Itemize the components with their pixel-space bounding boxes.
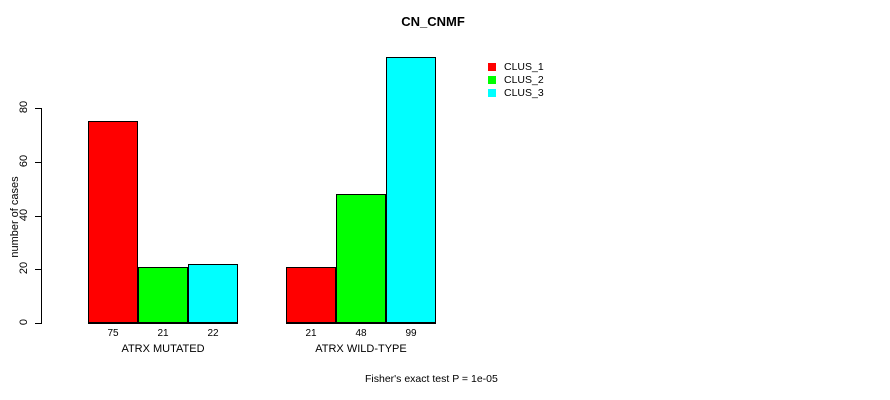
y-axis-title: number of cases — [9, 171, 21, 263]
group-baseline — [286, 323, 436, 324]
legend-item-label: CLUS_2 — [504, 75, 544, 86]
y-axis-tick-mark — [35, 323, 41, 324]
legend-item[interactable]: CLUS_3 — [487, 87, 544, 99]
bar-value-label: 22 — [188, 328, 238, 339]
legend: CLUS_1CLUS_2CLUS_3 — [487, 61, 544, 100]
bar[interactable] — [386, 57, 436, 323]
legend-color-swatch — [487, 62, 497, 72]
bar-value-label: 99 — [386, 328, 436, 339]
chart-title-container: CN_CNMF — [0, 13, 890, 31]
legend-item[interactable]: CLUS_1 — [487, 61, 544, 73]
y-axis-tick-mark — [35, 216, 41, 217]
statistical-test-annotation: Fisher's exact test P = 1e-05 — [365, 373, 498, 385]
page-title: CN_CNMF — [401, 14, 465, 29]
bar-value-label: 75 — [88, 328, 138, 339]
group-baseline — [88, 323, 238, 324]
legend-color-swatch — [487, 75, 497, 85]
legend-item-label: CLUS_1 — [504, 62, 544, 73]
bar[interactable] — [138, 267, 188, 323]
y-axis-tick-label: 0 — [18, 307, 30, 337]
y-axis-tick-mark — [35, 108, 41, 109]
x-axis-group-label: ATRX MUTATED — [58, 343, 268, 355]
y-axis-line — [41, 108, 42, 324]
bar-value-label: 21 — [138, 328, 188, 339]
legend-item[interactable]: CLUS_2 — [487, 74, 544, 86]
bar-value-label: 21 — [286, 328, 336, 339]
chart-canvas: CN_CNMF 020406080 number of cases 752122… — [0, 0, 890, 400]
bar[interactable] — [286, 267, 336, 323]
bar[interactable] — [336, 194, 386, 323]
y-axis-tick-mark — [35, 269, 41, 270]
bar[interactable] — [188, 264, 238, 323]
y-axis-tick-mark — [35, 162, 41, 163]
bar[interactable] — [88, 121, 138, 323]
legend-item-label: CLUS_3 — [504, 88, 544, 99]
bar-value-label: 48 — [336, 328, 386, 339]
legend-color-swatch — [487, 88, 497, 98]
y-axis-tick-label: 80 — [18, 92, 30, 122]
x-axis-group-label: ATRX WILD-TYPE — [256, 343, 466, 355]
